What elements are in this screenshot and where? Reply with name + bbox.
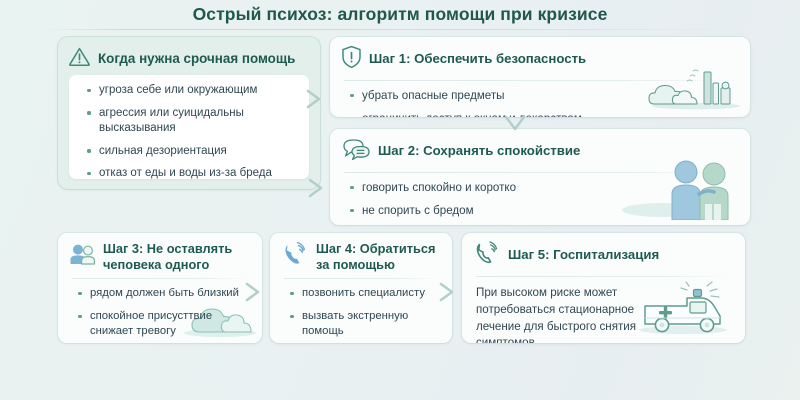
arrow-warning-to-step1 xyxy=(304,88,328,115)
shield-alert-icon xyxy=(341,45,362,74)
step-3-list: рядом должен быть близкий спокойное прис… xyxy=(58,279,262,343)
step-5-heading: Шаг 5: Госпитализация xyxy=(508,247,659,263)
step-2-heading: Шаг 2: Сохранять спокойствие xyxy=(378,143,580,159)
warning-panel-header: Когда нужна срочная помощь xyxy=(58,37,320,79)
step-3-header: Шаг 3: Не оставлять чеповека одного xyxy=(58,233,262,278)
title-divider xyxy=(42,29,758,30)
arrow-step3-to-step4 xyxy=(243,281,267,308)
arrow-step1-to-step2 xyxy=(502,114,528,139)
two-persons-icon xyxy=(69,243,96,271)
page-title: Острый психоз: алгоритм помощи при кризи… xyxy=(193,4,608,25)
list-item: не спорить с бредом xyxy=(350,203,738,218)
step-1-list: убрать опасные предметы ограничить досту… xyxy=(330,81,750,117)
warning-panel-heading: Когда нужна срочная помощь xyxy=(98,51,295,67)
step-2-list: говорить спокойно и коротко не спорить с… xyxy=(330,173,750,225)
list-item: ограничить доступ к окнам и лекарствам xyxy=(350,111,738,117)
step-card-5: Шаг 5: Госпитализация При высоком риске … xyxy=(462,233,745,343)
warning-triangle-icon xyxy=(68,46,91,72)
phone-ringing-icon xyxy=(281,242,309,271)
list-item: убрать опасные предметы xyxy=(350,88,738,103)
list-item: угроза себе или окружающим xyxy=(87,83,299,98)
warning-list: угроза себе или окружающим агрессия или … xyxy=(87,83,299,189)
step-4-heading: Шаг 4: Обратиться за помощью xyxy=(316,241,440,272)
phone-ringing-icon xyxy=(473,241,501,270)
step-5-paragraph: При высоком риске может потребоваться ст… xyxy=(462,277,662,343)
step-3-heading: Шаг 3: Не оставлять чеповека одного xyxy=(103,241,250,272)
list-item: отказ от еды и воды из-за бреда xyxy=(87,166,299,181)
step-2-header: Шаг 2: Сохранять спокойствие xyxy=(330,129,750,172)
step-card-2: Шаг 2: Сохранять спокойствие говорить сп… xyxy=(330,129,750,225)
list-item: говорить спокойно и коротко xyxy=(350,180,738,195)
step-4-header: Шаг 4: Обратиться за помощью xyxy=(270,233,452,278)
step-1-heading: Шаг 1: Обеспечить безопасность xyxy=(369,51,586,67)
step-4-list: позвонить специалисту вызвать экстренную… xyxy=(270,279,452,343)
list-item: спокойное присусттвие снижает тревогу xyxy=(78,309,250,339)
list-item: сильная дезориентация xyxy=(87,144,299,159)
warning-panel-list-card: угроза себе или окружающим агрессия или … xyxy=(69,75,309,179)
arrow-step4-to-step5 xyxy=(437,281,461,308)
list-item: позвонить специалисту xyxy=(290,286,440,301)
arrow-step2-to-step3 xyxy=(306,177,330,204)
speech-bubbles-icon xyxy=(341,137,371,166)
list-item: рядом должен быть близкий xyxy=(78,286,250,301)
title-bar: Острый психоз: алгоритм помощи при кризи… xyxy=(0,0,800,28)
step-card-3: Шаг 3: Не оставлять чеповека одного рядо… xyxy=(58,233,262,343)
list-item: вызвать экстренную помощь xyxy=(290,309,440,339)
step-card-4: Шаг 4: Обратиться за помощью позвонить с… xyxy=(270,233,452,343)
step-5-header: Шаг 5: Госпитализация xyxy=(462,233,745,276)
list-item: агрессия или суицидальны высказывания xyxy=(87,106,299,136)
warning-panel: Когда нужна срочная помощь угроза себе и… xyxy=(58,37,320,189)
step-1-header: Шаг 1: Обеспечить безопасность xyxy=(330,37,750,80)
step-card-1: Шаг 1: Обеспечить безопасность убрать оп… xyxy=(330,37,750,117)
